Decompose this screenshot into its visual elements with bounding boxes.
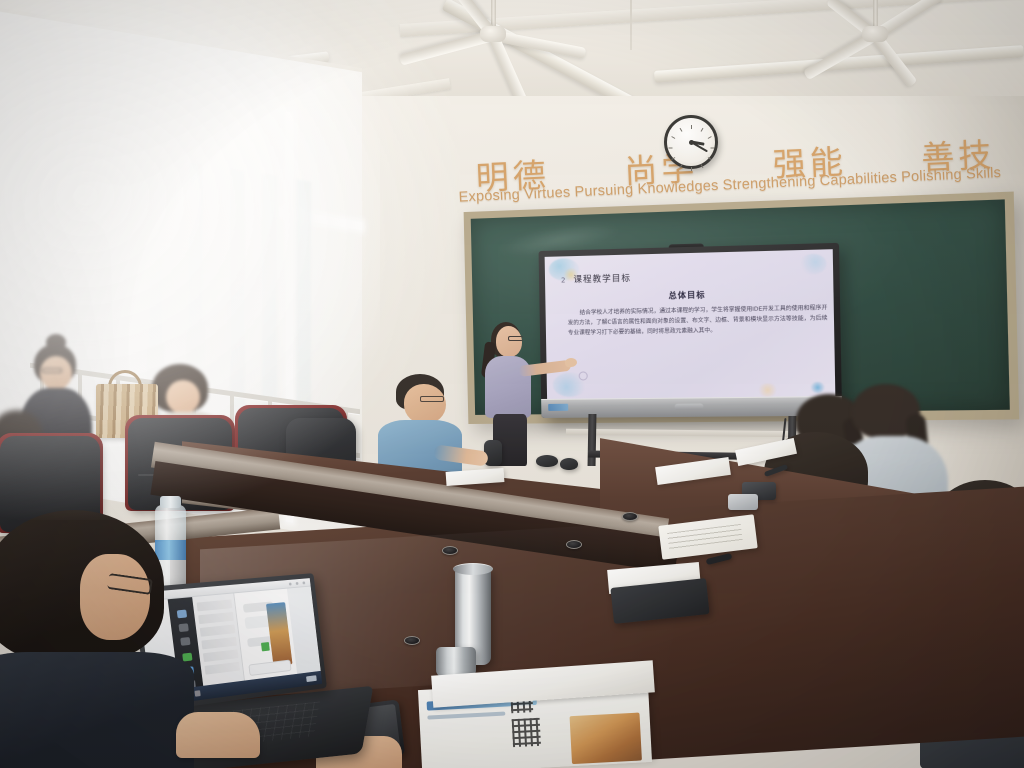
status-indicator	[261, 642, 270, 651]
cable-grommet	[442, 546, 458, 555]
clock-face	[670, 121, 712, 163]
clock-tick	[708, 157, 712, 160]
glasses-icon	[42, 368, 62, 373]
window-dot[interactable]	[289, 583, 292, 586]
window-dot[interactable]	[296, 582, 299, 585]
taskbar-clock[interactable]	[306, 675, 317, 682]
clock-tick	[691, 167, 692, 171]
clock-tick	[669, 148, 673, 149]
display-home-button[interactable]	[675, 403, 704, 409]
clock-center-pin	[689, 140, 694, 145]
slide-heading: 总体目标	[545, 286, 833, 303]
head	[166, 380, 200, 414]
presenter-pointing-hand	[564, 357, 577, 368]
hair-bun	[46, 334, 66, 351]
cable-grommet	[566, 540, 582, 549]
wall-clock	[664, 115, 718, 169]
ceiling-fan	[800, 0, 950, 70]
slide-decor-blob	[799, 254, 827, 275]
ceiling-fan	[398, 0, 588, 80]
hand-on-keyboard	[176, 712, 260, 758]
torso	[0, 652, 194, 768]
fan-rod	[873, 0, 878, 28]
presenter-head	[496, 326, 522, 357]
clock-tick	[711, 148, 715, 149]
fan-hub	[862, 26, 888, 42]
display-frame: 2 课程教学目标 总体目标 结合学校人才培养的实际情况，通过本课程的学习，学生将…	[539, 243, 843, 418]
slide-decor-blob	[811, 382, 825, 394]
clock-tick	[708, 136, 712, 139]
notebook-lines	[667, 524, 743, 551]
slide-body-text: 结合学校人才培养的实际情况，通过本课程的学习，学生将掌握使用IDE开发工具的使用…	[567, 303, 827, 338]
light-wire	[630, 0, 632, 50]
clock-tick	[691, 125, 692, 129]
clock-tick	[671, 157, 675, 160]
glasses-icon	[420, 396, 444, 402]
media-thumbnail[interactable]	[266, 602, 293, 666]
message-input[interactable]	[248, 660, 291, 676]
clock-tick	[680, 128, 683, 132]
cable-grommet	[622, 512, 638, 521]
chat-pane[interactable]	[234, 589, 297, 681]
cable-grommet	[404, 636, 420, 645]
interactive-flat-panel[interactable]: 2 课程教学目标 总体目标 结合学校人才培养的实际情况，通过本课程的学习，学生将…	[539, 243, 843, 418]
fan-hub	[480, 26, 506, 42]
slide-section-title: 课程教学目标	[573, 272, 631, 285]
slide-header: 2 课程教学目标	[561, 272, 631, 286]
classroom-meeting-photo: 明德 尚学 强能 善技 Exposing Virtues Pursuing Kn…	[0, 0, 1024, 768]
head	[40, 356, 72, 390]
clock-tick	[701, 128, 704, 132]
qr-code	[512, 718, 541, 747]
head	[80, 554, 150, 640]
glasses-icon	[508, 336, 523, 341]
smartphone-on-table[interactable]	[728, 494, 758, 510]
presentation-screen[interactable]: 2 课程教学目标 总体目标 结合学校人才培养的实际情况，通过本课程的学习，学生将…	[545, 249, 836, 399]
head	[404, 384, 446, 424]
clock-tick	[671, 136, 675, 139]
slide-section-number: 2	[561, 276, 566, 284]
booklet-subtitle-band	[427, 712, 505, 720]
thermos-opening	[453, 563, 493, 575]
booklet-photo	[570, 713, 642, 765]
slide-decor-blob	[757, 383, 778, 397]
bottle-cap	[160, 496, 181, 508]
window-dot[interactable]	[302, 581, 305, 584]
